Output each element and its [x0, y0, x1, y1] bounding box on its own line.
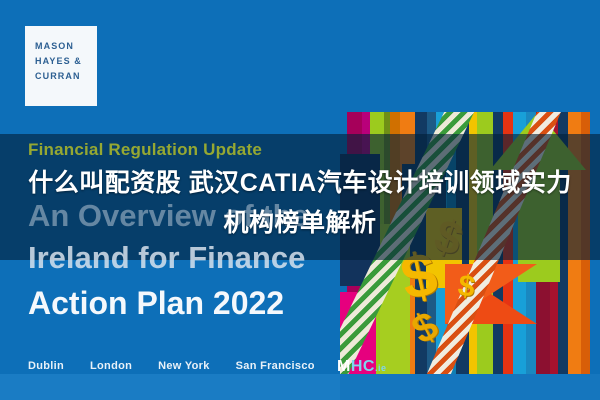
overlay-caption: 什么叫配资股 武汉CATIA汽车设计培训领域实力 机构榜单解析 — [0, 163, 600, 243]
bottom-blue-strip — [0, 374, 600, 400]
city-item: San Francisco — [236, 360, 315, 372]
mhc-letters-hc: HC — [351, 358, 375, 375]
logo-line-1: MASON — [35, 39, 97, 54]
city-item: Dublin — [28, 360, 64, 372]
logo-line-2: HAYES & — [35, 54, 97, 69]
mhc-domain-suffix: .ie — [375, 363, 387, 373]
overlay-caption-line-2: 机构榜单解析 — [14, 203, 586, 243]
city-item: London — [90, 360, 132, 372]
poster-kicker: Financial Regulation Update — [28, 140, 262, 160]
poster-headline-line-3: Action Plan 2022 — [28, 285, 284, 322]
mhc-letter-m: M — [337, 358, 351, 375]
office-cities-list: Dublin London New York San Francisco — [28, 360, 315, 372]
overlay-caption-line-1: 什么叫配资股 武汉CATIA汽车设计培训领域实力 — [14, 163, 586, 203]
city-item: New York — [158, 360, 210, 372]
bottom-strip-right — [340, 374, 600, 400]
poster-image: $ $ $ $ MASON HAYES & CURRAN Financial R… — [0, 0, 600, 400]
logo-line-3: CURRAN — [35, 69, 97, 84]
poster-headline-line-2: Ireland for Finance — [28, 240, 305, 276]
mason-hayes-curran-logo: MASON HAYES & CURRAN — [25, 26, 97, 106]
